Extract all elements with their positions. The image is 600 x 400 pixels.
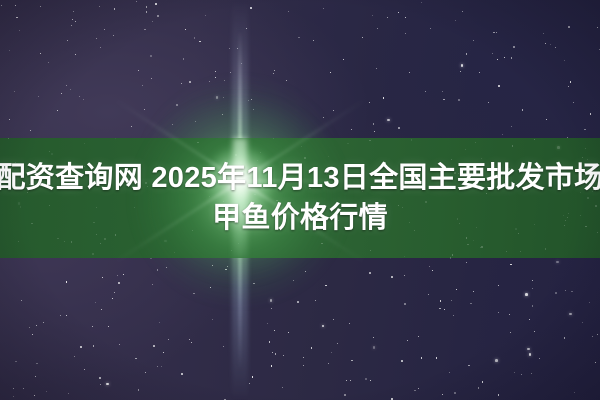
title-card: 配资查询网 2025年11月13日全国主要批发市场 甲鱼价格行情 bbox=[0, 0, 600, 400]
title-line-2: 甲鱼价格行情 bbox=[212, 201, 388, 235]
title-block: 配资查询网 2025年11月13日全国主要批发市场 甲鱼价格行情 bbox=[0, 138, 600, 258]
title-line-1: 配资查询网 2025年11月13日全国主要批发市场 bbox=[0, 161, 600, 195]
